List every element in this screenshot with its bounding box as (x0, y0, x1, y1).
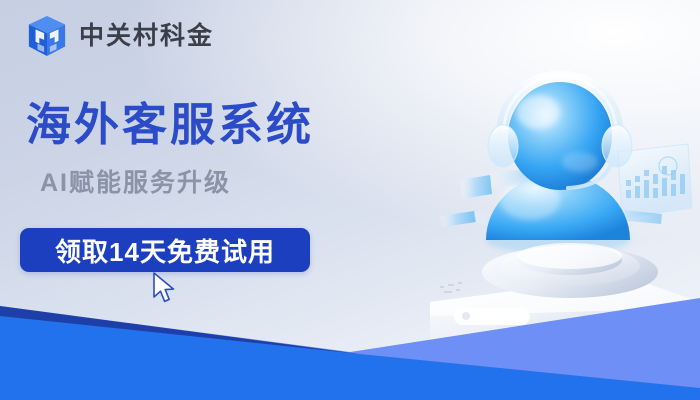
hero-subheadline: AI赋能服务升级 (40, 170, 231, 198)
mouse-cursor-icon (152, 272, 178, 306)
brand-name: 中关村科金 (79, 24, 214, 49)
free-trial-cta-button[interactable]: 领取14天免费试用 (20, 228, 310, 272)
brand-logo[interactable]: 中关村科金 (26, 14, 214, 58)
hero-headline: 海外客服系统 (26, 101, 314, 148)
zhongguancun-cube-logo-icon (26, 14, 68, 58)
promo-banner: 中关村科金 海外客服系统 AI赋能服务升级 领取14天免费试用 (0, 0, 700, 400)
decorative-bands (0, 280, 700, 400)
